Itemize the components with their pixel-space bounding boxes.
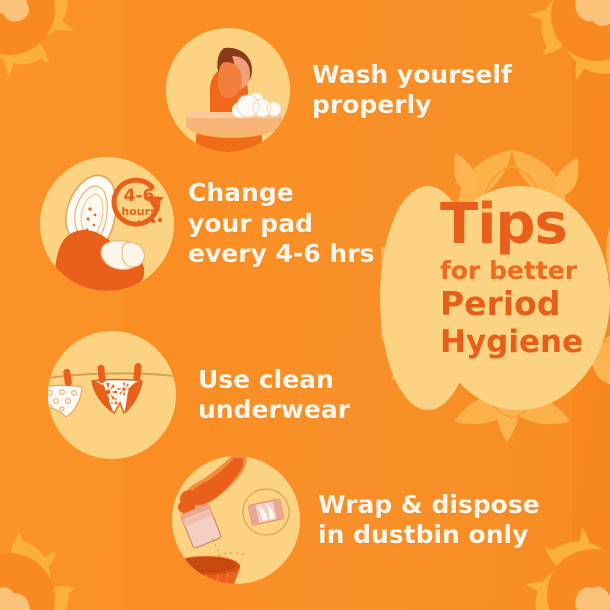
tip-label-pad: Change your pad every 4-6 hrs: [188, 178, 374, 270]
period-hygiene-infographic: Tips for better Period Hygiene: [0, 0, 610, 610]
hand-dropping-wrapped-pad-in-dustbin-icon: [172, 456, 300, 584]
badge-hours-unit: hours: [121, 205, 157, 218]
tips-headline-hygiene: Hygiene: [440, 326, 610, 359]
tips-headline-period: Period: [440, 287, 610, 322]
tip-row-underwear: Use clean underwear: [48, 331, 350, 459]
badge-hours-value: 4-6: [124, 186, 155, 206]
tips-headline-for-better: for better: [440, 257, 610, 285]
tip-label-wash: Wash yourself properly: [312, 60, 512, 121]
tip-row-wrap: Wrap & dispose in dustbin only: [172, 456, 540, 584]
underwear-on-clothesline-icon: [48, 331, 176, 459]
wrapped-pad-callout: [243, 489, 289, 535]
tips-headline-block: Tips for better Period Hygiene: [440, 198, 610, 359]
hand-holding-sanitary-pad-icon: 4-6 hours: [40, 157, 174, 291]
tip-label-wrap: Wrap & dispose in dustbin only: [318, 490, 540, 551]
tips-headline-tips: Tips: [440, 198, 610, 253]
woman-in-bathtub-icon: [166, 28, 290, 152]
background-band-left: [0, 0, 122, 610]
tip-label-underwear: Use clean underwear: [198, 365, 350, 426]
tip-row-pad: 4-6 hours Change your pad every 4-6 hrs: [40, 157, 374, 291]
tip-row-wash: Wash yourself properly: [166, 28, 512, 152]
dustbin: [172, 556, 240, 584]
